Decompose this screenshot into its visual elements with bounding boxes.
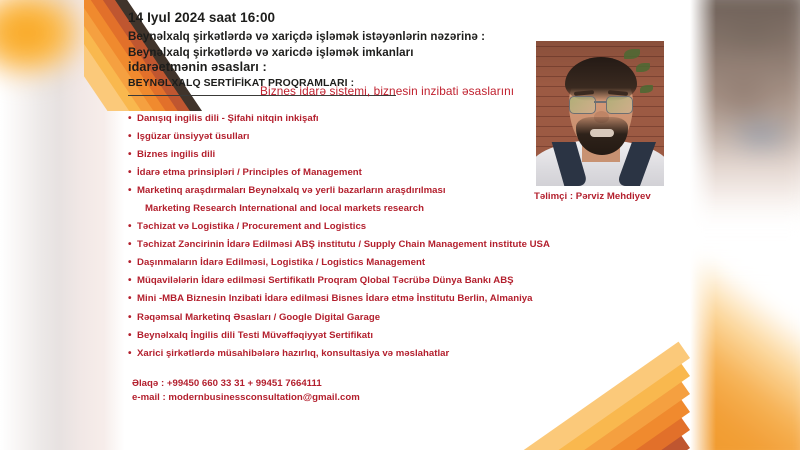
trainer-photo bbox=[536, 41, 664, 186]
photo-mouth bbox=[590, 129, 614, 137]
programs-subtitle-red: Biznes idarə sistemi, biznesin inzibati … bbox=[260, 84, 514, 98]
list-item: Mini -MBA Biznesin Inzibati İdarə edilmə… bbox=[128, 290, 668, 308]
photo-glasses-bridge bbox=[594, 101, 606, 103]
list-item: Rəqəmsal Marketinq Əsasları / Google Dig… bbox=[128, 309, 668, 327]
list-item: Təchizat Zəncirinin İdarə Edilməsi ABŞ i… bbox=[128, 236, 668, 254]
contact-phone: Əlaqə : +99450 660 33 31 + 99451 7664111 bbox=[132, 377, 668, 392]
list-item: Xarici şirkətlərdə müsahibələrə hazırlıq… bbox=[128, 345, 668, 363]
list-item: Beynəlxalq İngilis dili Testi Müvəffəqiy… bbox=[128, 327, 668, 345]
list-item: Təchizat və Logistika / Procurement and … bbox=[128, 218, 668, 236]
contact-block: Əlaqə : +99450 660 33 31 + 99451 7664111… bbox=[132, 377, 668, 406]
slide-canvas: 14 Iyul 2024 saat 16:00 Beynəlxalq şirkə… bbox=[0, 0, 800, 450]
photo-glasses-right-lens bbox=[606, 96, 633, 114]
photo-glasses-left-lens bbox=[569, 96, 596, 114]
list-item-continuation: Marketing Research International and loc… bbox=[128, 200, 668, 218]
contact-email: e-mail : modernbusinessconsultation@gmai… bbox=[132, 391, 668, 406]
trainer-caption: Təlimçi : Pərviz Mehdiyev bbox=[534, 191, 684, 202]
background-photo-blur bbox=[690, 0, 800, 450]
list-item: Müqavilələrin İdarə edilməsi Sertifikatl… bbox=[128, 272, 668, 290]
event-date-time: 14 Iyul 2024 saat 16:00 bbox=[128, 10, 668, 25]
list-item: Daşınmaların İdarə Edilməsi, Logistika /… bbox=[128, 254, 668, 272]
background-blur-fade bbox=[690, 0, 716, 450]
presentation-slide: 14 Iyul 2024 saat 16:00 Beynəlxalq şirkə… bbox=[0, 0, 690, 450]
